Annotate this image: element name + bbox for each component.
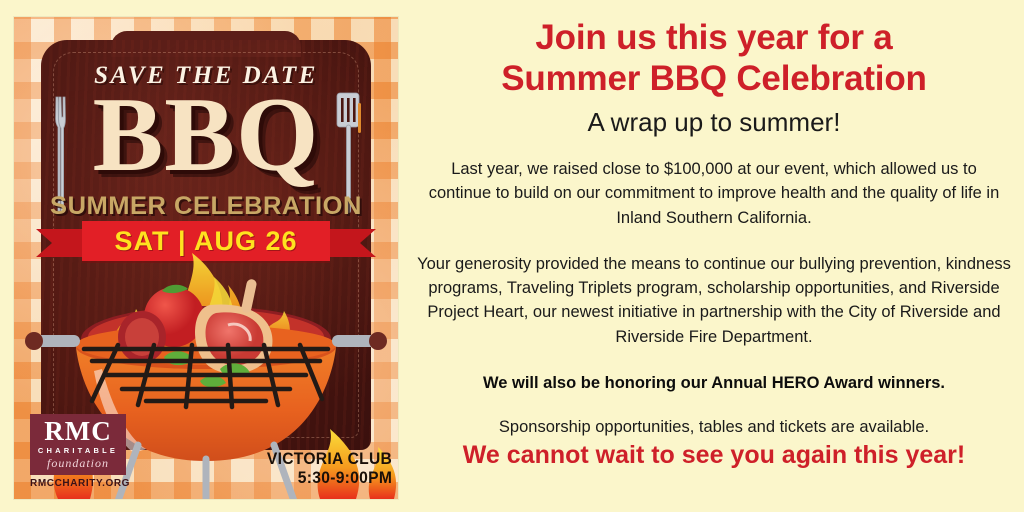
- venue-info: VICTORIA CLUB 5:30-9:00PM: [267, 449, 392, 487]
- flyer-canvas: SAVE THE DATE BBQ SUMMER CELEBRATION SAT…: [0, 0, 1024, 512]
- venue-name: VICTORIA CLUB: [267, 449, 392, 468]
- tomato-slice-icon: [118, 311, 166, 363]
- closing-line: We cannot wait to see you again this yea…: [463, 441, 965, 470]
- rmc-logo-url: RMCCHARITY.ORG: [30, 478, 126, 489]
- poster-title-bbq: BBQ: [14, 82, 398, 188]
- rmc-logo: RMC CHARITABLE foundation RMCCHARITY.ORG: [30, 414, 126, 489]
- headline: Join us this year for a Summer BBQ Celeb…: [501, 18, 926, 99]
- venue-time: 5:30-9:00PM: [267, 468, 392, 487]
- rmc-logo-mark: RMC: [36, 419, 120, 445]
- rmc-logo-box: RMC CHARITABLE foundation: [30, 414, 126, 475]
- sponsorship-line: Sponsorship opportunities, tables and ti…: [499, 418, 929, 437]
- subheadline: A wrap up to summer!: [588, 107, 841, 138]
- rmc-logo-charitable: CHARITABLE: [36, 446, 120, 455]
- paragraph-programs: Your generosity provided the means to co…: [416, 252, 1012, 349]
- paragraph-fundraising: Last year, we raised close to $100,000 a…: [424, 157, 1004, 230]
- hero-award-line: We will also be honoring our Annual HERO…: [483, 374, 945, 393]
- headline-line-2: Summer BBQ Celebration: [501, 59, 926, 100]
- save-the-date-poster: SAVE THE DATE BBQ SUMMER CELEBRATION SAT…: [14, 17, 398, 499]
- invitation-content: Join us this year for a Summer BBQ Celeb…: [404, 0, 1024, 512]
- headline-line-1: Join us this year for a: [501, 18, 926, 59]
- rmc-logo-foundation: foundation: [36, 456, 120, 471]
